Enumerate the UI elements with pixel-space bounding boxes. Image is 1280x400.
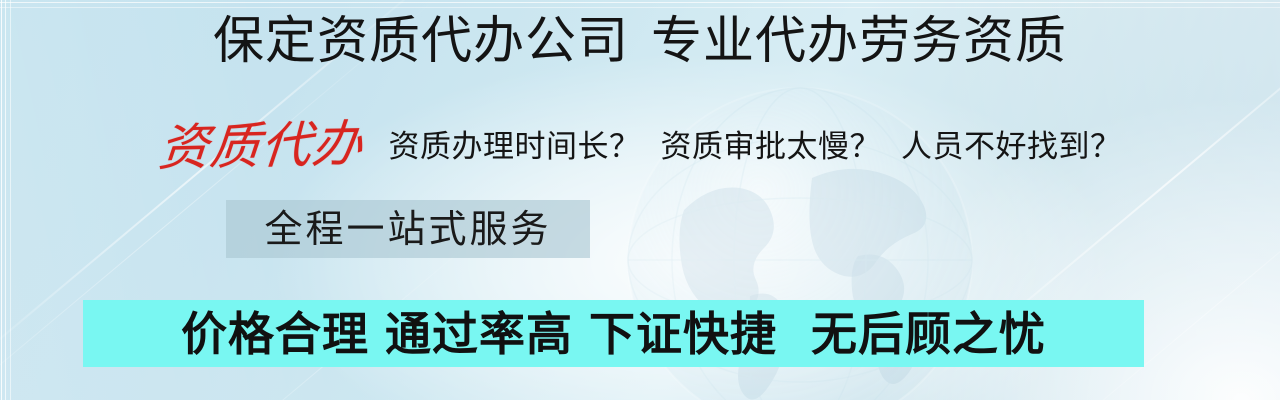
top-edge-lines bbox=[0, 0, 1280, 12]
banner-headline: 保定资质代办公司专业代办劳务资质 bbox=[0, 14, 1280, 68]
slogan-item-2: 通过率高 bbox=[385, 308, 573, 360]
problem-question-list: 资质办理时间长？资质审批太慢？人员不好找到？ bbox=[389, 131, 1122, 162]
headline-part-2: 专业代办劳务资质 bbox=[651, 12, 1067, 69]
brush-tag-label: 资质代办 bbox=[156, 119, 365, 173]
service-highlight-box: 全程一站式服务 bbox=[226, 200, 590, 258]
promo-banner: 保定资质代办公司专业代办劳务资质 资质代办 资质办理时间长？资质审批太慢？人员不… bbox=[0, 0, 1280, 400]
headline-part-1: 保定资质代办公司 bbox=[213, 12, 629, 69]
problem-row: 资质代办 资质办理时间长？资质审批太慢？人员不好找到？ bbox=[0, 113, 1280, 179]
service-highlight-label: 全程一站式服务 bbox=[264, 210, 551, 248]
slogan-band-text: 价格合理通过率高下证快捷无后顾之忧 bbox=[181, 311, 1046, 357]
problem-question-3: 人员不好找到？ bbox=[901, 129, 1122, 164]
problem-question-1: 资质办理时间长？ bbox=[389, 129, 641, 164]
slogan-item-3: 下证快捷 bbox=[589, 308, 777, 360]
slogan-band: 价格合理通过率高下证快捷无后顾之忧 bbox=[83, 300, 1144, 367]
slogan-item-4: 无后顾之忧 bbox=[811, 308, 1046, 360]
slogan-item-1: 价格合理 bbox=[181, 308, 369, 360]
problem-question-2: 资质审批太慢？ bbox=[661, 129, 882, 164]
